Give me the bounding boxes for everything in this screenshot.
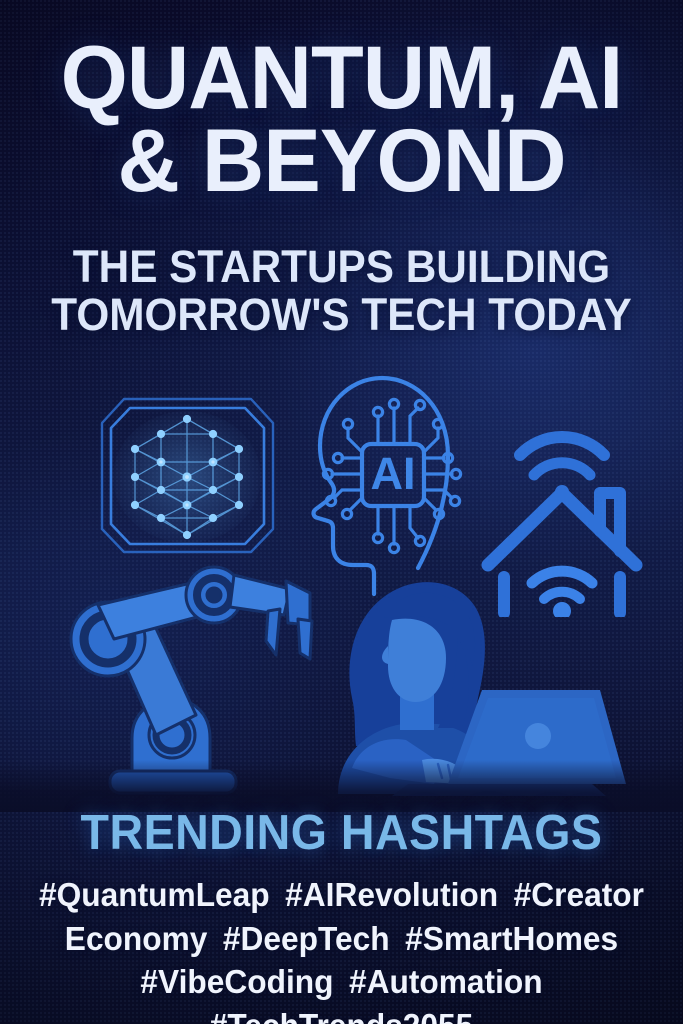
poster-subtitle: THE STARTUPS BUILDING TOMORROW'S TECH TO…: [0, 243, 683, 338]
title-line-2: & BEYOND: [10, 119, 673, 202]
trending-hashtags-section: TRENDING HASHTAGS #QuantumLeap #AIRevolu…: [0, 805, 683, 1024]
subtitle-line-2: TOMORROW'S TECH TODAY: [20, 291, 662, 339]
text-layer: QUANTUM, AI & BEYOND THE STARTUPS BUILDI…: [0, 0, 683, 1024]
hashtags-heading: TRENDING HASHTAGS: [17, 805, 666, 861]
hashtags-line-2: Economy #DeepTech #SmartHomes: [39, 917, 645, 961]
poster-canvas: AI: [0, 0, 683, 1024]
hashtags-line-1: #QuantumLeap #AIRevolution #Creator: [39, 873, 645, 917]
hashtags-list: #QuantumLeap #AIRevolution #Creator Econ…: [14, 873, 670, 1024]
subtitle-line-1: THE STARTUPS BUILDING: [20, 243, 662, 291]
poster-title: QUANTUM, AI & BEYOND: [0, 36, 683, 202]
title-line-1: QUANTUM, AI: [10, 36, 673, 119]
hashtags-line-3: #VibeCoding #Automation #TechTrends2055: [39, 960, 645, 1024]
